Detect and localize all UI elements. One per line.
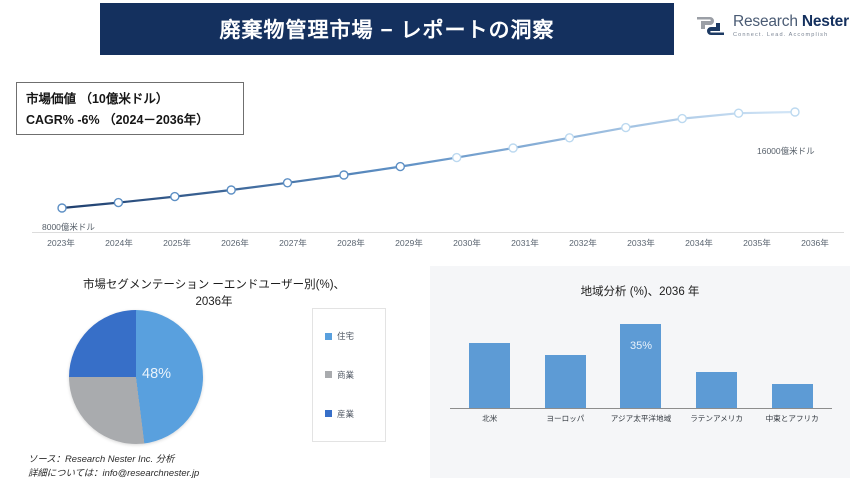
logo-name-part1: Research	[733, 13, 798, 30]
year-tick-label: 2024年	[90, 237, 148, 249]
contact-line: 詳細については：info@researchnester.jp	[28, 466, 199, 480]
line-chart-x-axis: 2023年2024年2025年2026年2027年2028年2029年2030年…	[0, 232, 862, 252]
page-title: 廃棄物管理市場 − レポートの洞察	[220, 14, 555, 44]
bar-chart-area: 35% 北米ヨーロッパアジア太平洋地域ラテンアメリカ中東とアフリカ	[430, 312, 850, 432]
bar-category-labels: 北米ヨーロッパアジア太平洋地域ラテンアメリカ中東とアフリカ	[452, 413, 830, 424]
line-data-point	[396, 163, 404, 171]
year-tick-labels: 2023年2024年2025年2026年2027年2028年2029年2030年…	[32, 237, 844, 249]
pie-legend-label: 住宅	[337, 330, 354, 342]
pie-legend-item[interactable]: 商業	[325, 369, 385, 381]
year-tick-label: 2027年	[264, 237, 322, 249]
line-data-point	[566, 134, 574, 142]
bar-category-label: 中東とアフリカ	[754, 413, 830, 424]
logo-tagline: Connect. Lead. Accomplish	[733, 33, 849, 39]
pie-legend-item[interactable]: 住宅	[325, 330, 385, 342]
year-tick-label: 2026年	[206, 237, 264, 249]
year-tick-label: 2032年	[554, 237, 612, 249]
line-data-point	[791, 108, 799, 116]
bar[interactable]	[469, 343, 510, 408]
segmentation-title: 市場セグメンテーション ーエンドユーザー別(%)、 2036年	[12, 266, 416, 311]
x-axis-rule	[32, 232, 844, 233]
logo-name-part2: Nester	[802, 13, 849, 30]
year-tick-label: 2028年	[322, 237, 380, 249]
bar-value-label: 35%	[620, 340, 661, 352]
bar-column	[754, 312, 830, 408]
bar-column	[679, 312, 755, 408]
year-tick-label: 2030年	[438, 237, 496, 249]
line-data-point	[678, 115, 686, 123]
year-tick-label: 2033年	[612, 237, 670, 249]
line-data-point	[284, 179, 292, 187]
source-line: ソース：Research Nester Inc. 分析	[28, 452, 199, 466]
line-data-point	[340, 171, 348, 179]
bar[interactable]: 35%	[620, 324, 661, 408]
segmentation-panel: 市場セグメンテーション ーエンドユーザー別(%)、 2036年 48% 住宅商業…	[12, 266, 416, 478]
line-data-point	[453, 154, 461, 162]
year-tick-label: 2035年	[728, 237, 786, 249]
bar-category-label: ヨーロッパ	[528, 413, 604, 424]
pie-slice-label-residential: 48%	[142, 366, 171, 382]
bar-category-label: 北米	[452, 413, 528, 424]
header-banner: 廃棄物管理市場 − レポートの洞察	[100, 3, 674, 55]
line-end-value-label: 16000億米ドル	[757, 145, 815, 157]
line-data-point	[622, 124, 630, 132]
bar[interactable]	[545, 355, 586, 408]
bar-column	[452, 312, 528, 408]
year-tick-label: 2036年	[786, 237, 844, 249]
line-data-point	[114, 199, 122, 207]
year-tick-label: 2031年	[496, 237, 554, 249]
segmentation-title-line1: 市場セグメンテーション ーエンドユーザー別(%)、	[12, 277, 416, 294]
report-infographic: 廃棄物管理市場 − レポートの洞察 Research Nester Connec…	[0, 0, 862, 485]
legend-swatch-icon	[325, 371, 332, 378]
logo-wordmark: Research Nester Connect. Lead. Accomplis…	[733, 14, 849, 38]
year-tick-label: 2034年	[670, 237, 728, 249]
bar-column	[528, 312, 604, 408]
bar[interactable]	[772, 384, 813, 408]
bar-x-axis-rule	[450, 408, 832, 409]
pie-legend-label: 産業	[337, 408, 354, 420]
pie-legend: 住宅商業産業	[312, 308, 386, 442]
bar[interactable]	[696, 372, 737, 408]
bar-chart-plot: 35%	[452, 312, 830, 408]
bar-category-label: ラテンアメリカ	[679, 413, 755, 424]
market-value-line-chart: 8000億米ドル 16000億米ドル	[0, 60, 862, 245]
regional-analysis-panel: 地域分析 (%)、2036 年 35% 北米ヨーロッパアジア太平洋地域ラテンアメ…	[430, 266, 850, 478]
bar-category-label: アジア太平洋地域	[603, 413, 679, 424]
pie-legend-label: 商業	[337, 369, 354, 381]
bar-column: 35%	[603, 312, 679, 408]
line-data-point	[735, 109, 743, 117]
legend-swatch-icon	[325, 333, 332, 340]
line-data-point	[509, 144, 517, 152]
regional-analysis-title: 地域分析 (%)、2036 年	[430, 266, 850, 299]
year-tick-label: 2023年	[32, 237, 90, 249]
legend-swatch-icon	[325, 410, 332, 417]
line-data-point	[171, 193, 179, 201]
research-nester-logo-icon	[695, 14, 726, 38]
pie-chart-area: 48% 住宅商業産業	[12, 308, 416, 448]
brand-logo: Research Nester Connect. Lead. Accomplis…	[695, 14, 849, 38]
line-data-point	[227, 186, 235, 194]
line-data-point	[58, 204, 66, 212]
year-tick-label: 2025年	[148, 237, 206, 249]
source-footnote: ソース：Research Nester Inc. 分析 詳細については：info…	[28, 452, 199, 480]
pie-legend-item[interactable]: 産業	[325, 408, 385, 420]
pie-chart	[69, 310, 203, 444]
year-tick-label: 2029年	[380, 237, 438, 249]
line-chart-svg	[0, 60, 862, 245]
